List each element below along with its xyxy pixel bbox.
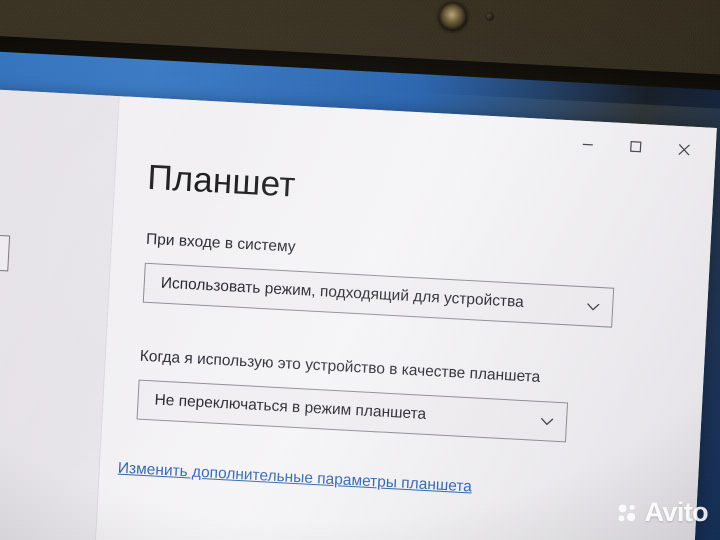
chevron-down-icon <box>538 412 557 431</box>
titlebar-controls <box>563 120 709 174</box>
page-title: Планшет <box>146 160 296 203</box>
minimize-button[interactable] <box>563 120 613 168</box>
laptop-screen: Планшет При входе в систему Использовать… <box>0 48 720 540</box>
signin-mode-dropdown[interactable]: Использовать режим, подходящий для устро… <box>143 263 614 328</box>
close-icon <box>676 141 692 157</box>
content-pane: Планшет При входе в систему Использовать… <box>92 96 717 540</box>
minimize-icon <box>580 137 595 152</box>
search-input[interactable] <box>0 226 10 271</box>
webcam-lens-icon <box>439 3 467 31</box>
watermark-text: Avito <box>645 499 709 526</box>
tablet-usage-dropdown[interactable]: Не переключаться в режим планшета <box>137 380 569 443</box>
close-button[interactable] <box>658 125 708 173</box>
signin-mode-value: Использовать режим, подходящий для устро… <box>160 275 584 316</box>
advanced-tablet-settings-link[interactable]: Изменить дополнительные параметры планше… <box>117 460 472 497</box>
avito-logo-icon <box>616 502 638 524</box>
signin-label: При входе в систему <box>146 231 296 257</box>
tablet-usage-value: Не переключаться в режим планшета <box>154 391 538 429</box>
chevron-down-icon <box>584 297 603 316</box>
avito-watermark: Avito <box>616 499 709 526</box>
microphone-hole-icon <box>485 12 494 21</box>
usage-label: Когда я использую это устройство в качес… <box>139 348 540 387</box>
settings-window: Планшет При входе в систему Использовать… <box>0 86 717 540</box>
maximize-icon <box>628 139 643 154</box>
maximize-button[interactable] <box>611 122 661 170</box>
